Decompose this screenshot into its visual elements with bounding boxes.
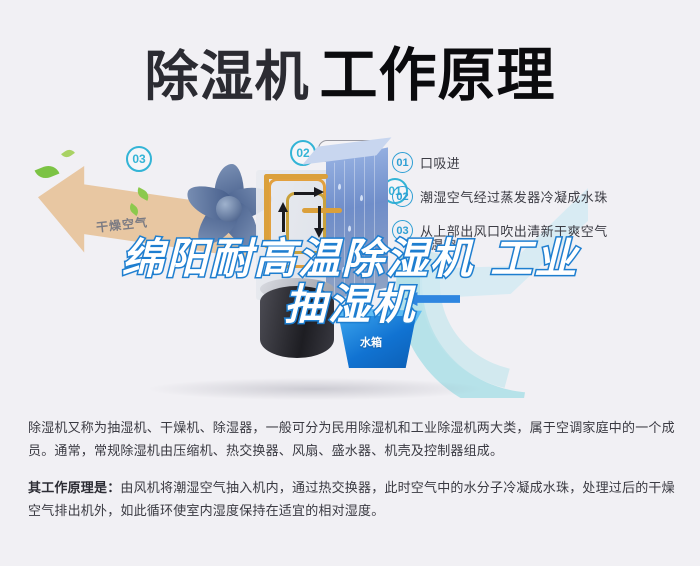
body-paragraph-2-rest: 由风机将潮湿空气抽入机内，通过热交换器，此时空气中的水分子冷凝成水珠，处理过后的…	[28, 480, 675, 518]
step-text-02: 潮湿空气经过蒸发器冷凝成水珠	[420, 187, 608, 206]
illustration-ground-shadow	[150, 378, 480, 400]
flow-arrow-shaft	[318, 206, 321, 228]
compressor-icon	[260, 286, 334, 358]
leaf-icon	[61, 147, 75, 160]
flow-arrow-right-icon	[314, 187, 324, 197]
leaf-icon	[35, 162, 60, 181]
refrigerant-tube-icon	[302, 208, 342, 213]
flow-arrow-down-icon	[314, 228, 324, 238]
page-title-part-b: 工作原理	[319, 41, 555, 109]
page-root: 除湿机工作原理 干燥空气 03 02 01 热交换器	[0, 0, 700, 566]
body-paragraph-2: 其工作原理是：由风机将潮湿空气抽入机内，通过热交换器，此时空气中的水分子冷凝成水…	[28, 476, 676, 522]
step-badge-03: 03	[392, 220, 413, 241]
flow-arrow-up-icon	[278, 202, 288, 212]
page-title: 除湿机工作原理	[0, 28, 700, 112]
diagram-badge-03: 03	[126, 146, 152, 172]
step-item-01: 01 口吸进	[392, 152, 692, 173]
step-badge-01: 01	[392, 152, 413, 173]
flow-arrow-shaft	[282, 210, 285, 232]
article-body: 除湿机又称为抽湿机、干燥机、除湿器，一般可分为民用除湿机和工业除湿机两大类，属于…	[28, 416, 676, 536]
water-tank-label: 水箱	[360, 334, 382, 350]
step-badge-02: 02	[392, 186, 413, 207]
body-paragraph-2-lead: 其工作原理是：	[28, 480, 120, 495]
refrigerant-tube-icon	[264, 174, 269, 248]
refrigerant-tube-icon	[264, 174, 328, 179]
heat-exchanger-coil-block	[326, 147, 388, 300]
step-description-list: 01 口吸进 02 潮湿空气经过蒸发器冷凝成水珠 03 从上部出风口吹出清新干爽…	[392, 152, 692, 254]
page-title-part-a: 除湿机	[144, 45, 309, 108]
flow-arrow-shaft	[294, 192, 314, 195]
step-text-03: 从上部出风口吹出清新干爽空气	[420, 221, 608, 240]
step-item-03: 03 从上部出风口吹出清新干爽空气	[392, 220, 692, 241]
step-item-02: 02 潮湿空气经过蒸发器冷凝成水珠	[392, 186, 692, 207]
step-text-01: 口吸进	[420, 153, 460, 172]
body-paragraph-1: 除湿机又称为抽湿机、干燥机、除湿器，一般可分为民用除湿机和工业除湿机两大类，属于…	[28, 416, 676, 462]
